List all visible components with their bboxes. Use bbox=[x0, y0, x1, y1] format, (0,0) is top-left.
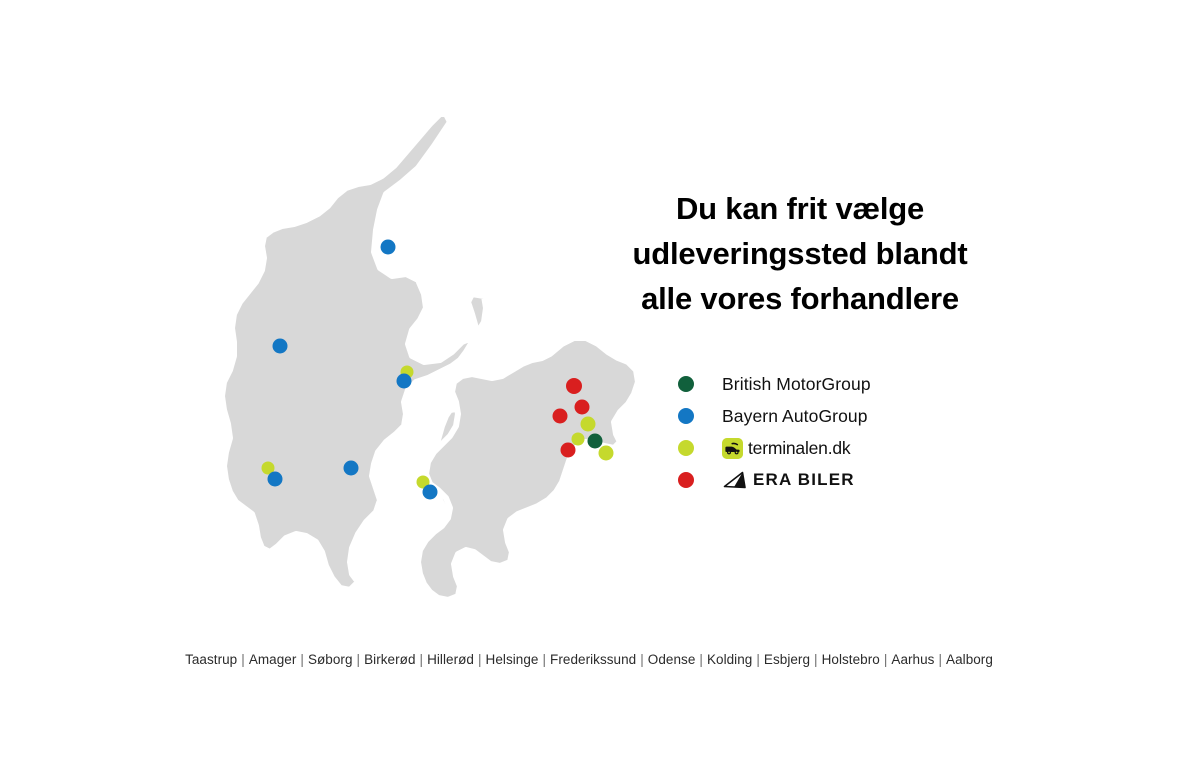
city-name-holstebro[interactable]: Holstebro bbox=[822, 652, 880, 667]
city-separator: | bbox=[416, 652, 428, 667]
headline-line-2: udleveringssted blandt bbox=[600, 231, 1000, 276]
city-name-aarhus[interactable]: Aarhus bbox=[891, 652, 934, 667]
city-separator: | bbox=[237, 652, 249, 667]
city-name-kolding[interactable]: Kolding bbox=[707, 652, 752, 667]
city-name-aalborg[interactable]: Aalborg bbox=[946, 652, 993, 667]
legend-item-bayern-autogroup[interactable]: Bayern AutoGroup bbox=[678, 400, 978, 432]
city-name-søborg[interactable]: Søborg bbox=[308, 652, 353, 667]
map-marker-kolding-bayern[interactable] bbox=[344, 461, 359, 476]
page-headline: Du kan frit vælge udleveringssted blandt… bbox=[600, 186, 1000, 321]
map-marker-amager-british[interactable] bbox=[588, 434, 603, 449]
map-marker-hillerod-era[interactable] bbox=[575, 400, 590, 415]
map-marker-odense-bayern[interactable] bbox=[423, 485, 438, 500]
city-name-birkerød[interactable]: Birkerød bbox=[364, 652, 415, 667]
city-separator: | bbox=[752, 652, 764, 667]
map-marker-soborg-terminalen[interactable] bbox=[572, 433, 585, 446]
city-name-taastrup[interactable]: Taastrup bbox=[185, 652, 237, 667]
map-marker-aalborg-bayern[interactable] bbox=[381, 240, 396, 255]
legend-dot-era-biler bbox=[678, 472, 694, 488]
city-name-amager[interactable]: Amager bbox=[249, 652, 297, 667]
legend-label-british-motorgroup: British MotorGroup bbox=[722, 374, 871, 395]
legend-label-terminalen: terminalen.dk bbox=[748, 438, 850, 459]
dealer-map-page: Du kan frit vælge udleveringssted blandt… bbox=[0, 0, 1178, 782]
city-separator: | bbox=[810, 652, 822, 667]
legend-item-era-biler[interactable]: ERA BILER bbox=[678, 464, 978, 496]
era-biler-brandline: ERA BILER bbox=[722, 470, 855, 490]
headline-line-1: Du kan frit vælge bbox=[600, 186, 1000, 231]
map-marker-amager-terminalen[interactable] bbox=[599, 446, 614, 461]
era-biler-logo-icon bbox=[722, 471, 747, 490]
legend-dot-bayern-autogroup bbox=[678, 408, 694, 424]
legend-dot-terminalen bbox=[678, 440, 694, 456]
denmark-map bbox=[200, 90, 660, 630]
city-name-frederikssund[interactable]: Frederikssund bbox=[550, 652, 636, 667]
city-name-hillerød[interactable]: Hillerød bbox=[427, 652, 474, 667]
headline-line-3: alle vores forhandlere bbox=[600, 276, 1000, 321]
map-marker-esbjerg-bayern[interactable] bbox=[268, 472, 283, 487]
map-marker-aarhus-bayern[interactable] bbox=[397, 374, 412, 389]
legend-item-british-motorgroup[interactable]: British MotorGroup bbox=[678, 368, 978, 400]
city-separator: | bbox=[636, 652, 648, 667]
brand-legend: British MotorGroup Bayern AutoGroup bbox=[678, 368, 978, 496]
map-svg bbox=[200, 90, 660, 630]
terminalen-logo-icon bbox=[722, 438, 743, 459]
city-name-odense[interactable]: Odense bbox=[648, 652, 696, 667]
legend-label-bayern-autogroup: Bayern AutoGroup bbox=[722, 406, 868, 427]
city-separator: | bbox=[538, 652, 550, 667]
legend-dot-british-motorgroup bbox=[678, 376, 694, 392]
city-separator: | bbox=[880, 652, 892, 667]
landmass-zealand bbox=[418, 338, 638, 600]
city-separator: | bbox=[474, 652, 486, 667]
map-marker-frederikssund-era[interactable] bbox=[553, 409, 568, 424]
city-separator: | bbox=[296, 652, 308, 667]
map-marker-taastrup-era[interactable] bbox=[561, 443, 576, 458]
city-separator: | bbox=[353, 652, 365, 667]
legend-item-terminalen[interactable]: terminalen.dk bbox=[678, 432, 978, 464]
city-separator: | bbox=[934, 652, 946, 667]
legend-label-era-biler: ERA BILER bbox=[753, 470, 855, 490]
map-marker-birkerod-terminalen[interactable] bbox=[581, 417, 596, 432]
city-list: Taastrup|Amager|Søborg|Birkerød|Hillerød… bbox=[0, 652, 1178, 667]
terminalen-brandline: terminalen.dk bbox=[722, 438, 850, 459]
city-name-esbjerg[interactable]: Esbjerg bbox=[764, 652, 810, 667]
city-name-helsinge[interactable]: Helsinge bbox=[486, 652, 539, 667]
city-separator: | bbox=[695, 652, 707, 667]
map-landmasses bbox=[222, 114, 638, 600]
map-marker-helsinge-era[interactable] bbox=[566, 378, 582, 394]
map-marker-holstebro-bayern[interactable] bbox=[273, 339, 288, 354]
